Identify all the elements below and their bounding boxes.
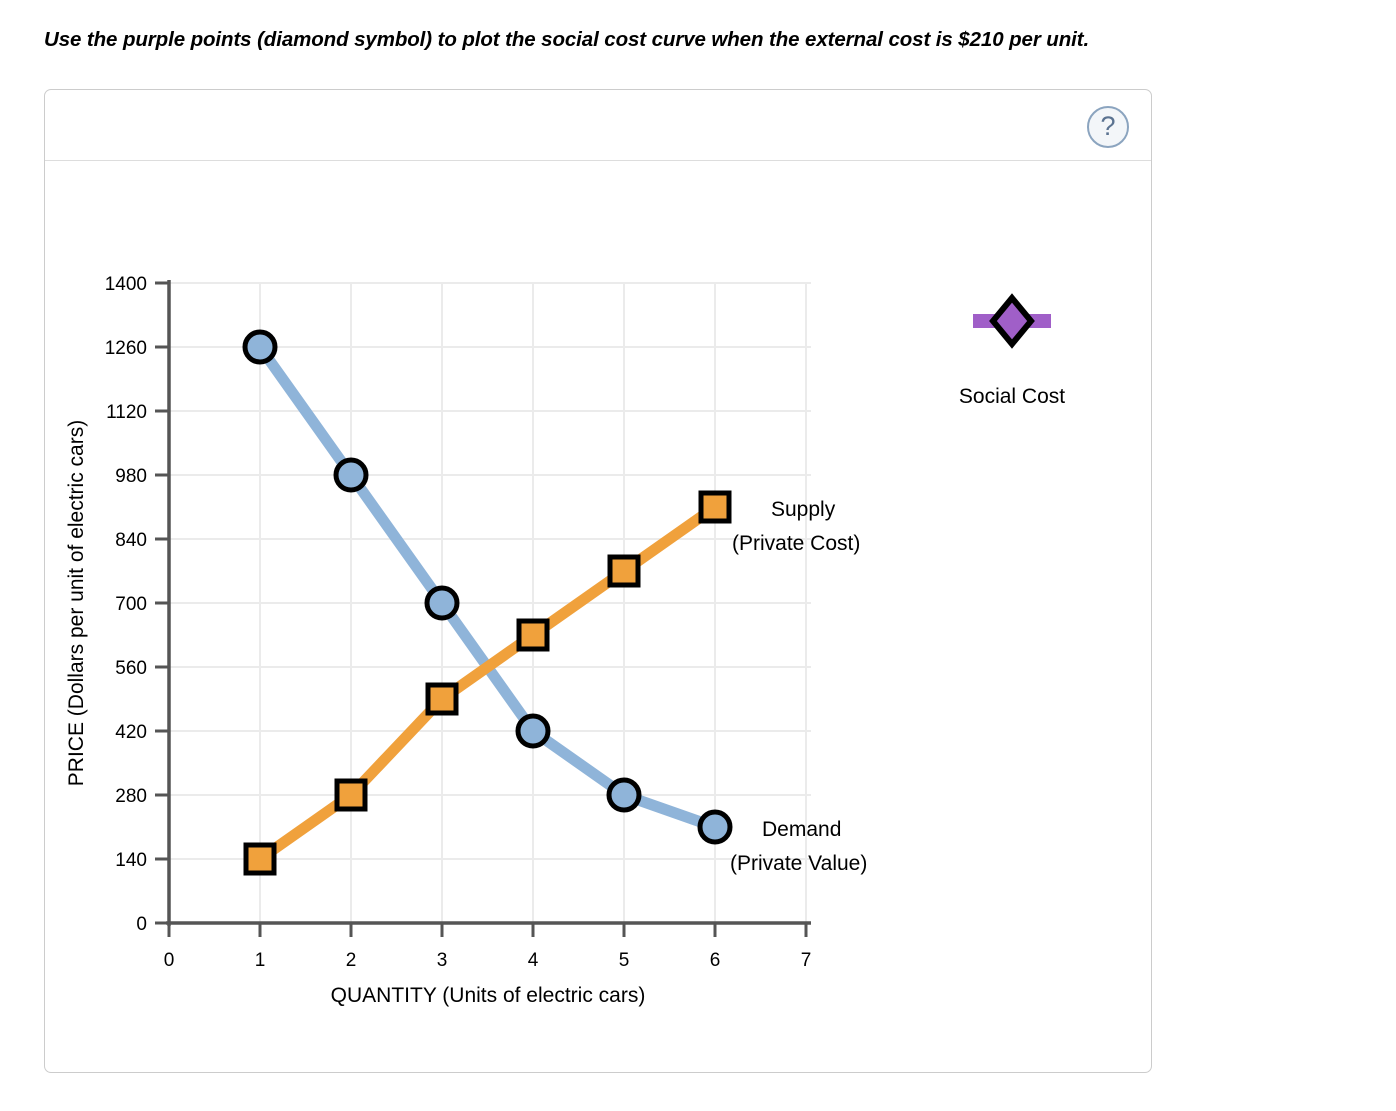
legend-label-social-cost: Social Cost <box>959 385 1065 408</box>
demand-markers <box>245 332 730 842</box>
supply-point[interactable] <box>701 493 729 521</box>
demand-point[interactable] <box>245 332 275 362</box>
x-tick-label: 0 <box>164 950 175 971</box>
y-tick-label: 840 <box>115 530 147 551</box>
y-tick-label: 700 <box>115 594 147 615</box>
demand-point[interactable] <box>427 588 457 618</box>
x-tick-label: 7 <box>801 950 812 971</box>
y-tick-labels: 1400 1260 1120 980 840 700 560 420 280 1… <box>105 274 147 935</box>
supply-point[interactable] <box>246 845 274 873</box>
x-tick-label: 2 <box>346 950 357 971</box>
demand-point[interactable] <box>518 716 548 746</box>
x-axis <box>166 923 811 937</box>
task-instruction: Use the purple points (diamond symbol) t… <box>44 28 1384 52</box>
supply-point[interactable] <box>519 621 547 649</box>
y-tick-label: 280 <box>115 786 147 807</box>
demand-point[interactable] <box>336 460 366 490</box>
y-tick-label: 1260 <box>105 338 147 359</box>
supply-point[interactable] <box>610 557 638 585</box>
social-cost-diamond-icon[interactable] <box>993 298 1031 344</box>
y-tick-label: 1400 <box>105 274 147 295</box>
chart-panel: ? <box>44 89 1152 1073</box>
y-tick-label: 0 <box>136 914 147 935</box>
y-tick-label: 140 <box>115 850 147 871</box>
supply-point[interactable] <box>337 781 365 809</box>
x-tick-label: 1 <box>255 950 266 971</box>
series-supply: Supply (Private Cost) <box>246 493 860 873</box>
demand-line <box>260 347 715 827</box>
x-tick-label: 4 <box>528 950 539 971</box>
y-axis <box>155 280 169 926</box>
demand-label-line1: Demand <box>762 818 841 841</box>
demand-label-line2: (Private Value) <box>730 852 867 875</box>
y-tick-label: 1120 <box>106 402 147 423</box>
economics-supply-demand-chart: 1400 1260 1120 980 840 700 560 420 280 1… <box>45 90 1153 1074</box>
x-tick-labels: 0 1 2 3 4 5 6 7 <box>164 950 812 971</box>
supply-point[interactable] <box>428 685 456 713</box>
x-tick-label: 3 <box>437 950 448 971</box>
supply-label-line2: (Private Cost) <box>732 532 860 555</box>
y-tick-label: 560 <box>115 658 147 679</box>
supply-label-line1: Supply <box>771 498 836 521</box>
demand-point[interactable] <box>609 780 639 810</box>
x-tick-label: 6 <box>710 950 721 971</box>
chart-canvas: 1400 1260 1120 980 840 700 560 420 280 1… <box>45 90 1153 1074</box>
y-tick-label: 420 <box>115 722 147 743</box>
y-axis-title: PRICE (Dollars per unit of electric cars… <box>65 420 88 786</box>
y-tick-label: 980 <box>115 466 147 487</box>
x-tick-label: 5 <box>619 950 630 971</box>
demand-point[interactable] <box>700 812 730 842</box>
legend-social-cost[interactable]: Social Cost <box>959 298 1065 408</box>
x-axis-title: QUANTITY (Units of electric cars) <box>331 984 646 1007</box>
